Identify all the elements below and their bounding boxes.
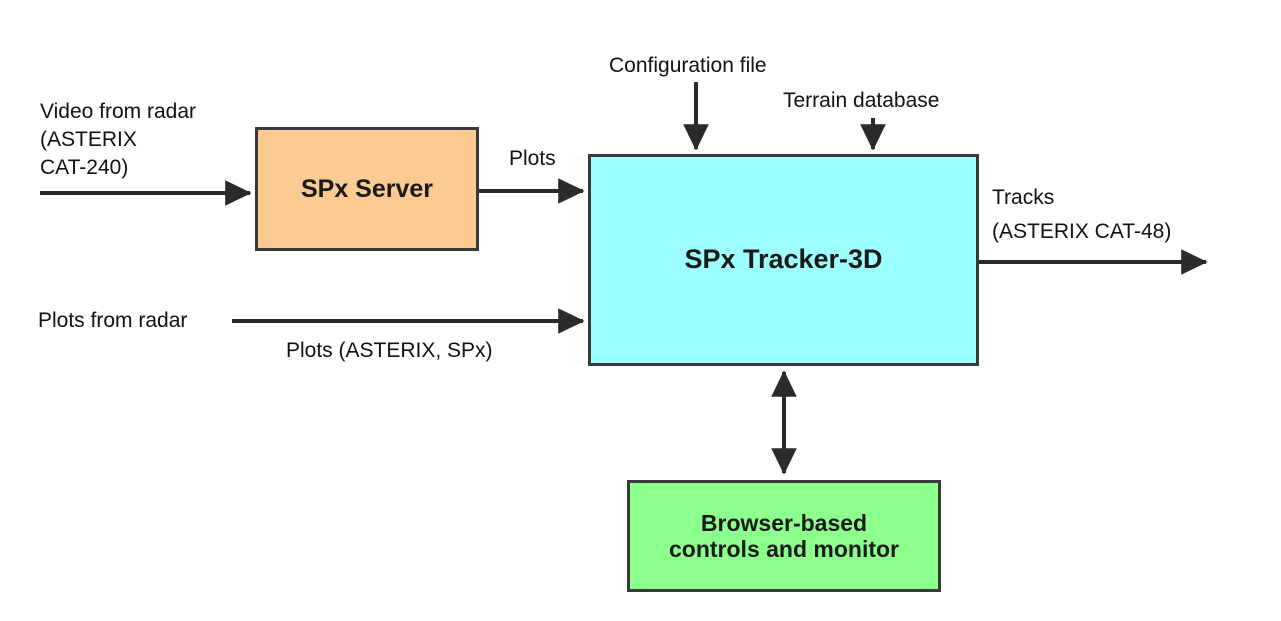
node-spx-tracker[interactable]: SPx Tracker-3D	[588, 154, 979, 366]
node-browser-label-line1: Browser-based	[701, 510, 867, 536]
label-plots: Plots	[509, 145, 556, 173]
node-browser-controls-monitor[interactable]: Browser-based controls and monitor	[627, 480, 941, 592]
label-video-from-radar-line2: (ASTERIX	[40, 126, 137, 154]
label-plots-from-radar: Plots from radar	[38, 307, 187, 335]
label-terrain-database: Terrain database	[783, 87, 939, 115]
label-video-from-radar-line3: CAT-240)	[40, 154, 128, 182]
node-spx-tracker-label: SPx Tracker-3D	[684, 244, 882, 275]
diagram-canvas: SPx Server SPx Tracker-3D Browser-based …	[0, 0, 1281, 621]
label-tracks-line1: Tracks	[992, 184, 1054, 212]
node-browser-label: Browser-based controls and monitor	[669, 510, 899, 563]
label-plots-asterix-spx: Plots (ASTERIX, SPx)	[286, 337, 493, 365]
label-tracks-line2: (ASTERIX CAT-48)	[992, 218, 1171, 246]
node-spx-server-label: SPx Server	[301, 175, 433, 204]
node-spx-server[interactable]: SPx Server	[255, 127, 479, 251]
label-configuration-file: Configuration file	[609, 52, 767, 80]
label-video-from-radar-line1: Video from radar	[40, 98, 196, 126]
node-browser-label-line2: controls and monitor	[669, 536, 899, 562]
